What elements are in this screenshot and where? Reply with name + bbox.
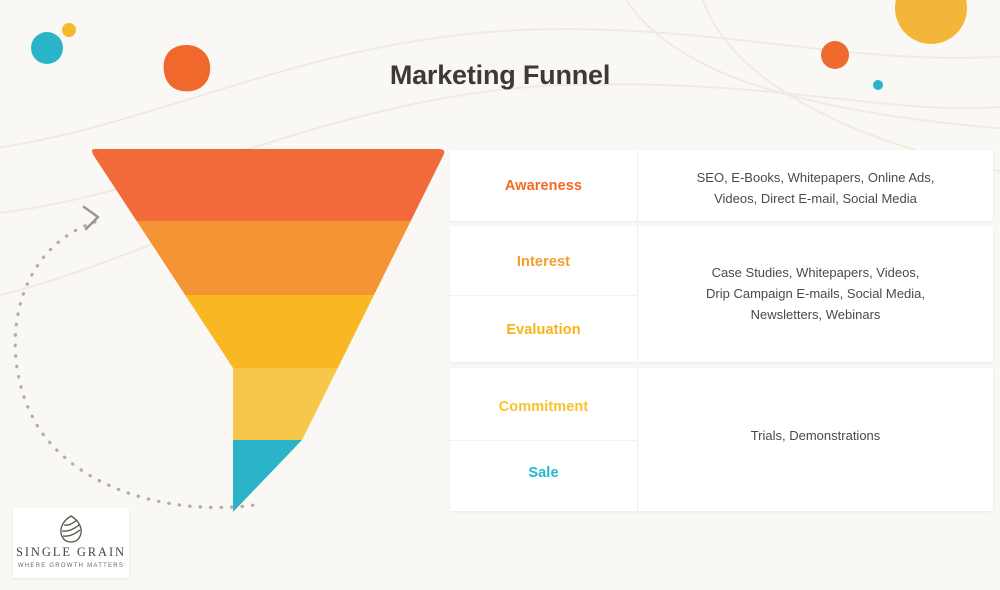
detail-line: SEO, E-Books, Whitepapers, Online Ads, bbox=[638, 167, 993, 188]
stage-label-awareness: Awareness bbox=[450, 178, 637, 194]
detail-line: Case Studies, Whitepapers, Videos, bbox=[638, 262, 993, 283]
detail-line: Videos, Direct E-mail, Social Media bbox=[638, 188, 993, 209]
detail-line: Drip Campaign E-mails, Social Media, bbox=[638, 283, 993, 304]
funnel-row-awareness: Awareness SEO, E-Books, Whitepapers, Onl… bbox=[450, 150, 993, 221]
stage-label-commitment: Commitment bbox=[450, 399, 637, 415]
detail-text-interest-evaluation: Case Studies, Whitepapers, Videos, Drip … bbox=[638, 262, 993, 325]
funnel-band-sale bbox=[80, 440, 460, 515]
detail-text-commitment-sale: Trials, Demonstrations bbox=[638, 425, 993, 446]
stage-label-interest: Interest bbox=[450, 254, 637, 270]
logo-name: SINGLE GRAIN bbox=[16, 545, 126, 560]
stage-label-evaluation: Evaluation bbox=[450, 322, 637, 338]
funnel-row-interest-evaluation: Interest Evaluation Case Studies, Whitep… bbox=[450, 226, 993, 362]
funnel-band-interest bbox=[80, 221, 460, 295]
funnel-row-commitment-sale: Commitment Sale Trials, Demonstrations bbox=[450, 368, 993, 511]
detail-text-awareness: SEO, E-Books, Whitepapers, Online Ads, V… bbox=[638, 167, 993, 209]
row-divider bbox=[450, 440, 637, 441]
detail-line: Trials, Demonstrations bbox=[638, 425, 993, 446]
detail-line: Newsletters, Webinars bbox=[638, 304, 993, 325]
funnel-band-evaluation bbox=[80, 295, 460, 368]
grain-seed-icon bbox=[58, 514, 84, 544]
row-divider bbox=[450, 295, 637, 296]
infographic-canvas: Marketing Funnel Awareness SEO, E-Books,… bbox=[0, 0, 1000, 590]
funnel-band-commitment bbox=[80, 368, 460, 440]
brand-logo: SINGLE GRAIN WHERE GROWTH MATTERS bbox=[13, 508, 129, 578]
funnel-band-awareness bbox=[80, 145, 460, 221]
logo-tagline: WHERE GROWTH MATTERS bbox=[18, 563, 124, 569]
stage-label-sale: Sale bbox=[450, 465, 637, 481]
